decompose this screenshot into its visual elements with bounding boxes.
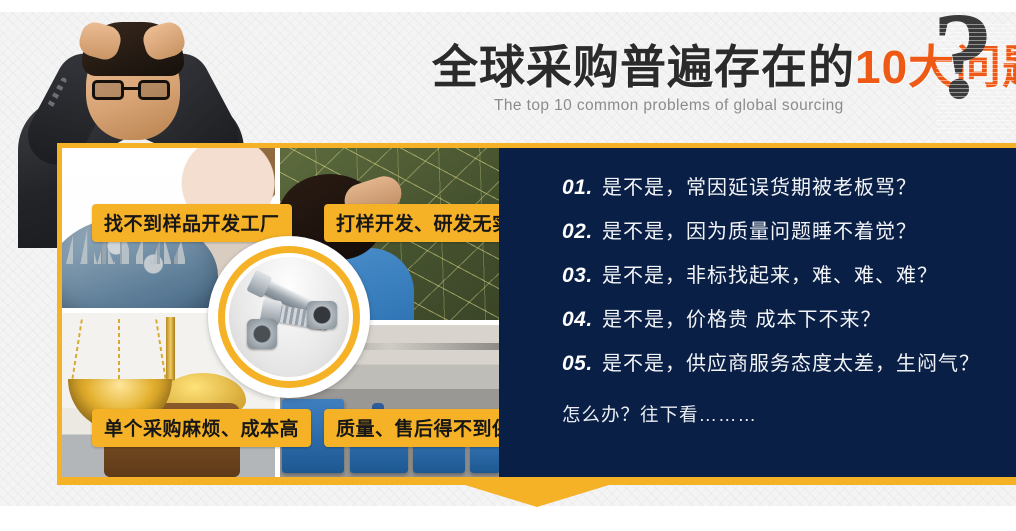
problem-item-01: 01. 是不是，常因延误货期被老板骂？ [562, 171, 1006, 215]
bottom-orange-bar [57, 478, 1016, 485]
problem-number-03: 03. [562, 264, 602, 288]
nut-shape-1 [247, 319, 277, 349]
headline-accent-text: 10大问题 [855, 41, 1016, 93]
promo-banner: 全球采购普遍存在的10大问题 The top 10 common problem… [0, 0, 1016, 531]
image-collage: 找不到样品开发工厂 打样开发、研发无实力 单个采购麻烦、成本高 质量、售后得不到… [62, 148, 499, 477]
problem-text-04: 是不是，价格贵 成本下不来？ [602, 303, 882, 332]
page-title: 全球采购普遍存在的10大问题 [432, 44, 1002, 90]
problem-item-04: 04. 是不是，价格贵 成本下不来？ [562, 303, 1006, 347]
problem-text-02: 是不是，因为质量问题睡不着觉？ [602, 215, 917, 244]
badge-photo-bolts-nuts [229, 257, 349, 377]
caption-chip-no-quality-guarantee: 质量、售后得不到保障 [324, 409, 499, 447]
nut-shape-2 [307, 301, 337, 329]
problem-text-01: 是不是，常因延误货期被老板骂？ [602, 171, 917, 200]
problem-text-05: 是不是，供应商服务态度太差，生闷气？ [602, 347, 980, 376]
headline-main-text: 全球采购普遍存在的 [432, 41, 855, 93]
content-panel: 找不到样品开发工厂 打样开发、研发无实力 单个采购麻烦、成本高 质量、售后得不到… [57, 143, 1016, 482]
problem-number-02: 02. [562, 220, 602, 244]
problem-number-05: 05. [562, 352, 602, 376]
scale-chain-left [71, 319, 83, 381]
background-bottom-strip [0, 506, 1016, 531]
headline-subtitle: The top 10 common problems of global sou… [494, 97, 1002, 115]
fastener-badge [208, 236, 370, 398]
caption-chip-no-rnd-capability: 打样开发、研发无实力 [324, 204, 499, 242]
caption-chip-no-sample-factory: 找不到样品开发工厂 [92, 204, 292, 242]
problem-item-02: 02. 是不是，因为质量问题睡不着觉？ [562, 215, 1006, 259]
problem-text-03: 是不是，非标找起来，难、难、难？ [602, 259, 938, 288]
glasses-right-lens [138, 80, 170, 100]
problems-footer-text: 怎么办？往下看……… [562, 401, 1006, 427]
caption-chip-high-cost: 单个采购麻烦、成本高 [92, 409, 311, 447]
problem-item-03: 03. 是不是，非标找起来，难、难、难？ [562, 259, 1006, 303]
problem-number-01: 01. [562, 176, 602, 200]
scroll-down-arrow-icon [465, 485, 609, 507]
problem-item-05: 05. 是不是，供应商服务态度太差，生闷气？ [562, 347, 1006, 391]
problems-list: 01. 是不是，常因延误货期被老板骂？ 02. 是不是，因为质量问题睡不着觉？ … [562, 171, 1006, 427]
glasses-bridge [124, 87, 138, 90]
glasses-left-lens [92, 80, 124, 100]
problems-panel: 01. 是不是，常因延误货期被老板骂？ 02. 是不是，因为质量问题睡不着觉？ … [499, 148, 1016, 477]
problem-number-04: 04. [562, 308, 602, 332]
scale-chain-mid [118, 319, 120, 381]
glasses-icon [92, 80, 174, 100]
headline-block: 全球采购普遍存在的10大问题 The top 10 common problem… [432, 44, 1002, 136]
